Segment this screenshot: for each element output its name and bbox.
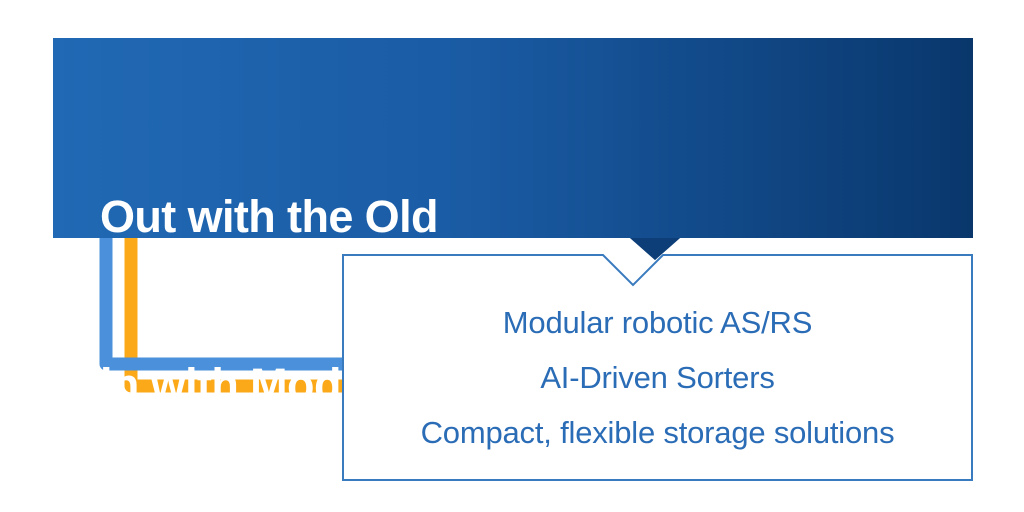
title-line-1: Out with the Old [100,189,930,245]
header-banner: Out with the Old in with Modular & Intel… [53,38,973,238]
list-item: Compact, flexible storage solutions [342,405,973,460]
list-item: Modular robotic AS/RS [342,295,973,350]
slide-canvas: Out with the Old in with Modular & Intel… [0,0,1024,512]
list-item: AI-Driven Sorters [342,350,973,405]
callout-panel: Modular robotic AS/RS AI-Driven Sorters … [342,254,973,481]
callout-feature-list: Modular robotic AS/RS AI-Driven Sorters … [342,295,973,460]
